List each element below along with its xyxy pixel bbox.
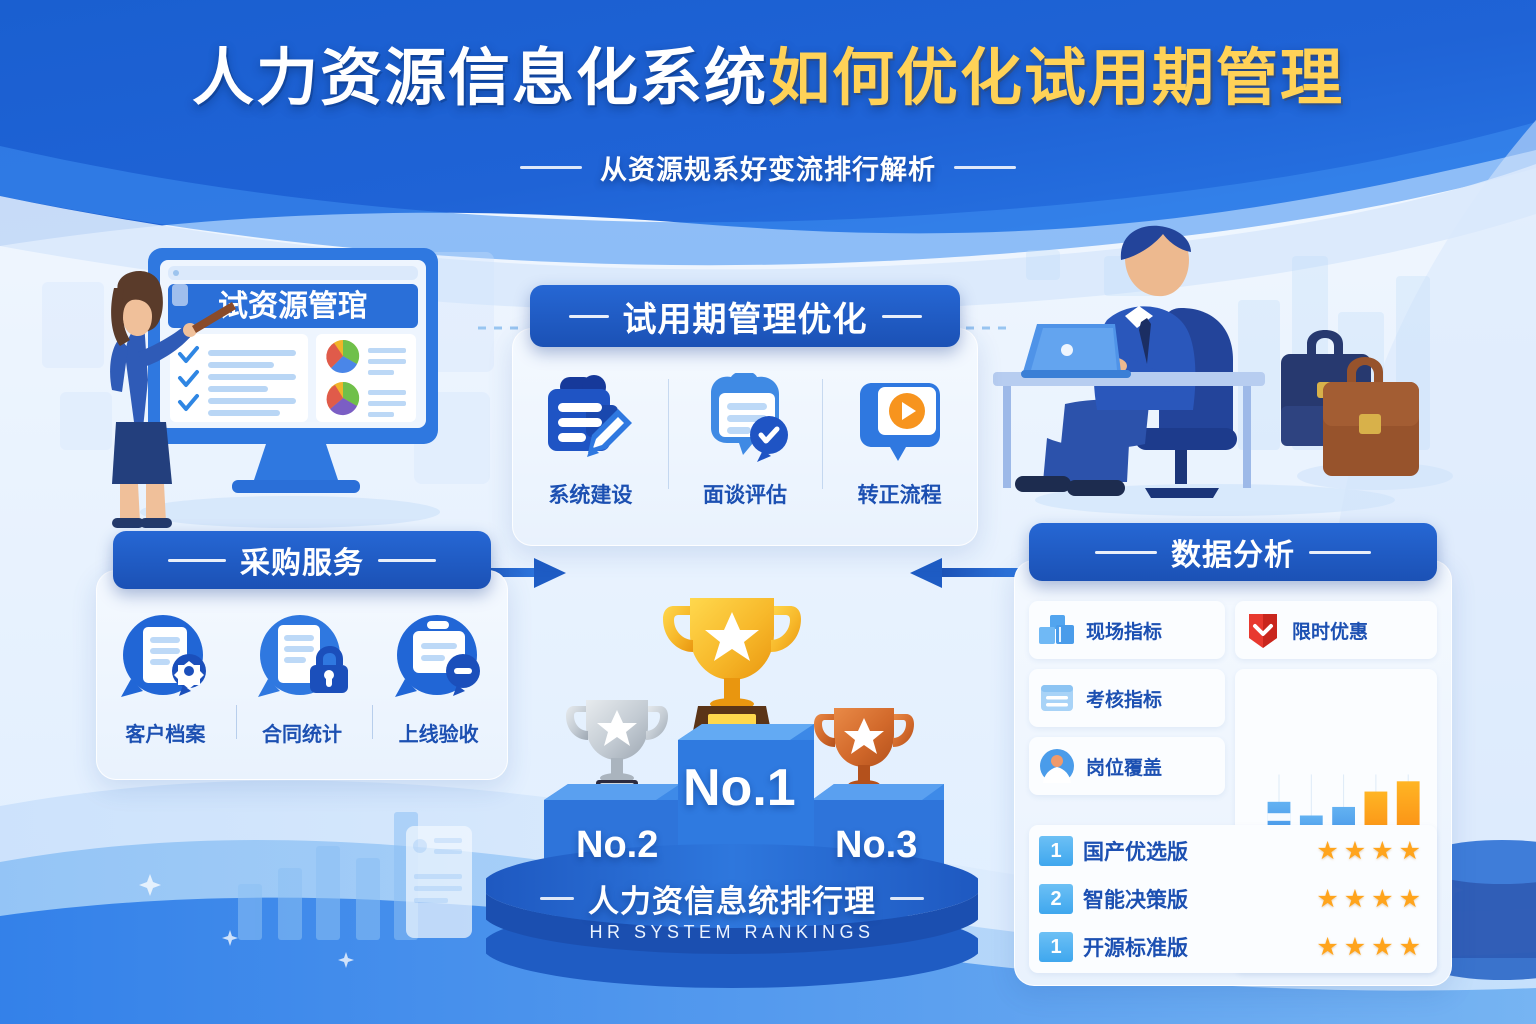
page-subtitle: 从资源规系好变流排行解析 (600, 148, 936, 187)
analysis-chip-label: 现场指标 (1086, 617, 1162, 644)
star-icon: ★ (1371, 839, 1393, 864)
analysis-chip-onsite[interactable]: 现场指标 (1029, 601, 1225, 659)
analysis-chip-promo[interactable]: 限时优惠 (1235, 601, 1437, 659)
ranking-badge: 1 (1039, 836, 1073, 866)
star-icon: ★ (1316, 935, 1338, 960)
analysis-card: 数据分析 现场指标 (1014, 560, 1452, 986)
star-icon: ★ (1316, 839, 1338, 864)
document-lines-icon (1037, 681, 1077, 715)
process-feature-system-setup[interactable]: 系统建设 (513, 373, 668, 509)
page-subtitle-row: 从资源规系好变流排行解析 (0, 148, 1536, 187)
podium-labels: No.1 No.2 No.3 人力资信息统排行理 HR SYSTEM RANKI… (486, 586, 978, 998)
podium-rule-right (890, 897, 924, 900)
service-item-contract-stats[interactable]: 合同统计 (234, 609, 371, 747)
analysis-chip-label: 限时优惠 (1292, 617, 1368, 644)
star-icon: ★ (1399, 887, 1421, 912)
ranking-stars: ★★★★ (1316, 935, 1427, 960)
header-rule-right (882, 315, 922, 318)
ranking-badge: 1 (1039, 932, 1073, 962)
service-card-header: 采购服务 (113, 531, 491, 589)
ranking-list: 1国产优选版★★★★2智能决策版★★★★1开源标准版★★★★ (1029, 826, 1437, 972)
star-icon: ★ (1344, 887, 1366, 912)
page-title-accent: 如何优化试用期管理 (768, 46, 1344, 111)
chart-blocks-icon (1037, 613, 1077, 647)
header-rule-right (1309, 551, 1371, 554)
process-feature-row: 系统建设 面谈评估 (513, 373, 977, 509)
star-icon: ★ (1344, 935, 1366, 960)
star-icon: ★ (1371, 887, 1393, 912)
process-card-header: 试用期管理优化 (530, 285, 960, 347)
video-play-icon (844, 373, 956, 469)
document-check-icon (689, 373, 801, 469)
podium-rule-left (540, 897, 574, 900)
analysis-card-title: 数据分析 (1171, 530, 1295, 574)
subtitle-rule-left (520, 166, 582, 169)
service-item-label: 客户档案 (125, 718, 205, 747)
header-rule-left (569, 315, 609, 318)
page-title: 人力资源信息化系统如何优化试用期管理 (0, 46, 1536, 111)
process-feature-label: 转正流程 (858, 479, 942, 509)
bar-segment-divider (1268, 813, 1291, 821)
service-card-title: 采购服务 (240, 538, 364, 582)
analysis-card-header: 数据分析 (1029, 523, 1437, 581)
header: 人力资源信息化系统如何优化试用期管理 从资源规系好变流排行解析 (0, 0, 1536, 228)
process-feature-label: 系统建设 (548, 479, 632, 509)
red-shield-icon (1243, 610, 1283, 650)
analysis-chip-label: 考核指标 (1086, 685, 1162, 712)
star-icon: ★ (1371, 935, 1393, 960)
ranking-stars: ★★★★ (1316, 839, 1427, 864)
process-feature-interview[interactable]: 面谈评估 (668, 373, 823, 509)
ranking-row[interactable]: 2智能决策版★★★★ (1039, 878, 1427, 920)
podium-title-row: 人力资信息统排行理 (486, 876, 978, 921)
clipboard-pencil-icon (534, 373, 646, 469)
service-card: 采购服务 客户档案 (96, 570, 508, 780)
header-rule-right (378, 559, 436, 562)
infographic-canvas: 人力资源信息化系统如何优化试用期管理 从资源规系好变流排行解析 试资源管琯 (0, 0, 1536, 1024)
podium-title: 人力资信息统排行理 (588, 876, 876, 921)
ranking-panel: 1国产优选版★★★★2智能决策版★★★★1开源标准版★★★★ (1029, 825, 1437, 973)
podium-subtitle: HR SYSTEM RANKINGS (486, 922, 978, 943)
process-feature-label: 面谈评估 (703, 479, 787, 509)
star-icon: ★ (1399, 839, 1421, 864)
process-card: 试用期管理优化 系统建 (512, 328, 978, 546)
ranking-name: 开源标准版 (1083, 932, 1231, 962)
process-feature-conversion[interactable]: 转正流程 (822, 373, 977, 509)
analysis-chip-label: 岗位覆盖 (1086, 753, 1162, 780)
analysis-chip-coverage[interactable]: 岗位覆盖 (1029, 737, 1225, 795)
header-rule-left (1095, 551, 1157, 554)
analysis-chip-assessment[interactable]: 考核指标 (1029, 669, 1225, 727)
header-rule-left (168, 559, 226, 562)
document-lock-icon (250, 609, 354, 709)
document-settings-icon (113, 609, 217, 709)
page-title-primary: 人力资源信息化系统 (192, 46, 768, 111)
ranking-name: 国产优选版 (1083, 836, 1231, 866)
service-item-label: 合同统计 (262, 718, 342, 747)
process-card-title: 试用期管理优化 (623, 292, 868, 341)
podium-label-third: No.3 (835, 824, 917, 867)
service-item-client-file[interactable]: 客户档案 (97, 609, 234, 747)
ranking-row[interactable]: 1国产优选版★★★★ (1039, 830, 1427, 872)
star-icon: ★ (1316, 887, 1338, 912)
ranking-stars: ★★★★ (1316, 887, 1427, 912)
ranking-badge: 2 (1039, 884, 1073, 914)
podium-label-second: No.2 (576, 824, 658, 867)
service-item-label: 上线验收 (399, 718, 479, 747)
ranking-row[interactable]: 1开源标准版★★★★ (1039, 926, 1427, 968)
ranking-name: 智能决策版 (1083, 884, 1231, 914)
person-pin-icon (1037, 748, 1077, 784)
star-icon: ★ (1399, 935, 1421, 960)
podium-label-first: No.1 (683, 758, 796, 818)
star-icon: ★ (1344, 839, 1366, 864)
subtitle-rule-right (954, 166, 1016, 169)
card-minus-icon (387, 609, 491, 709)
service-item-row: 客户档案 合同统计 (97, 609, 507, 747)
arrow-right-to-center (910, 558, 1024, 588)
